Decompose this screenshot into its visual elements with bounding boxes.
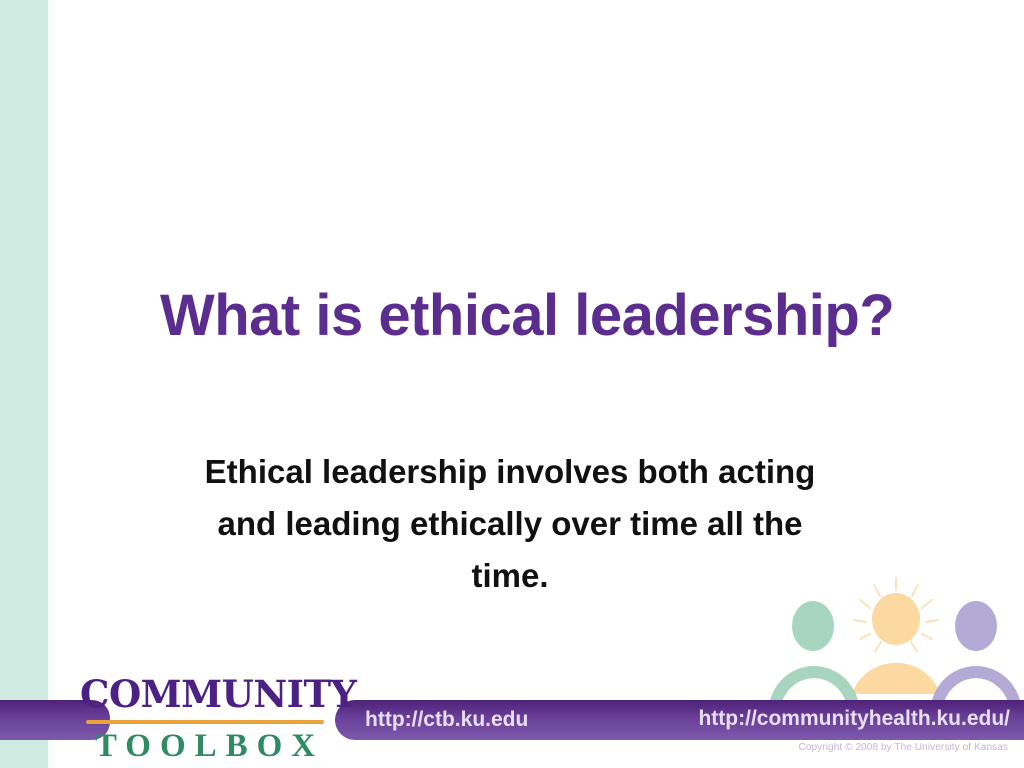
community-toolbox-logo[interactable]: COMMUNITY TOOLBOX (80, 676, 330, 768)
ctb-url-link[interactable]: http://ctb.ku.edu (365, 708, 528, 732)
figure-left-body-icon (770, 666, 858, 702)
copyright-notice: Copyright © 2008 by The University of Ka… (799, 742, 1008, 753)
left-accent-stripe (0, 0, 48, 768)
logo-divider-rule (86, 720, 324, 724)
slide-canvas: What is ethical leadership? Ethical lead… (0, 0, 1024, 768)
slide-title: What is ethical leadership? (160, 286, 960, 347)
figure-left-head-icon (792, 601, 834, 651)
left-accent-stripe-fade (48, 0, 58, 768)
logo-community-word: COMMUNITY (80, 676, 330, 713)
community-people-graphic (768, 576, 1024, 706)
figure-right-head-icon (955, 601, 997, 651)
communityhealth-url-link[interactable]: http://communityhealth.ku.edu/ (698, 707, 1010, 731)
slide-body-text: Ethical leadership involves both acting … (180, 446, 840, 602)
sun-disc-icon (872, 593, 920, 645)
center-arc-shape (852, 663, 940, 694)
figure-right-body-icon (932, 666, 1020, 702)
logo-toolbox-word: TOOLBOX (80, 728, 330, 764)
